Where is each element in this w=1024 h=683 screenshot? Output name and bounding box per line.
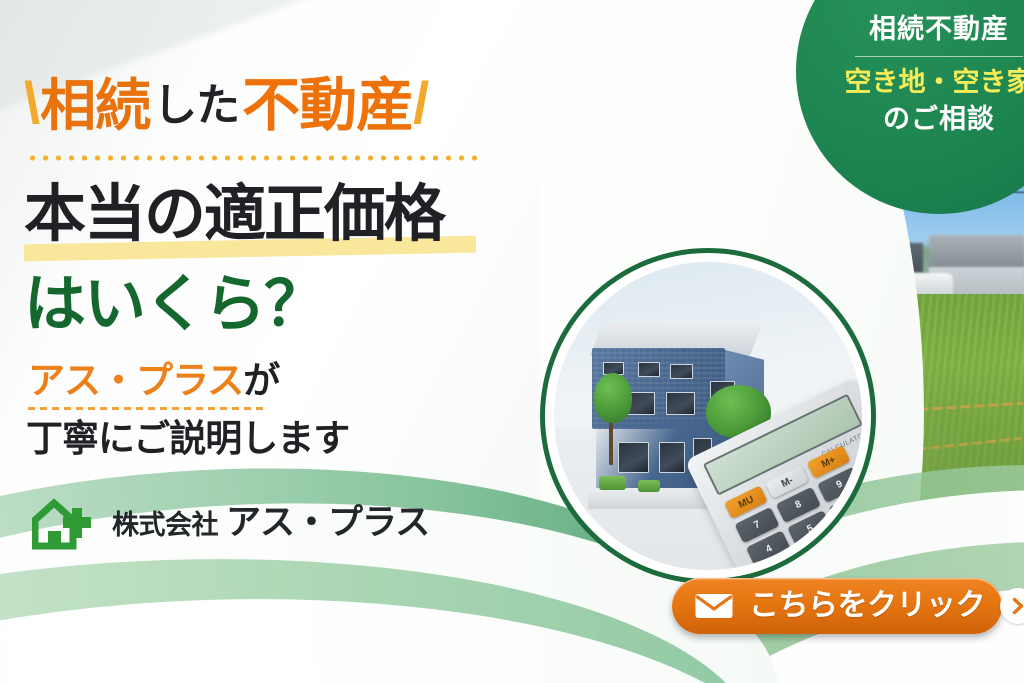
brand-dashed-underline — [28, 407, 266, 410]
slash-right-accent: / — [413, 75, 429, 133]
badge-line-2: 空き地・空き家 — [845, 69, 1024, 96]
company-name: アス・プラス — [226, 505, 429, 540]
badge-line-1: 相続不動産 — [869, 16, 1009, 43]
subcopy-brand: アス・プラス — [28, 360, 243, 401]
promotional-banner: \ 相続 した 不動産 / 本当の適正価格 はいくら？ アス・プラスが 丁寧にご… — [0, 0, 1024, 683]
model-tree — [594, 373, 632, 423]
house-model-calculator-image: CALCULATOR MU M- M+ 7 8 9 4 5 6 1 2 3 0 — [554, 262, 862, 570]
badge-line-3: のご相談 — [883, 106, 995, 133]
house-plus-logo-icon — [32, 494, 94, 550]
company-logo[interactable]: 株式会社 アス・プラス — [32, 494, 429, 550]
model-window — [666, 392, 695, 415]
model-window — [618, 442, 649, 473]
company-prefix: 株式会社 — [112, 512, 218, 539]
envelope-icon — [694, 592, 734, 620]
slash-left-accent: \ — [24, 75, 40, 133]
subcopy-particle: が — [243, 360, 279, 401]
headline-line-1: \ 相続 した 不動産 / — [24, 70, 504, 142]
headline-fudosan: 不動産 — [242, 77, 413, 135]
model-window — [670, 364, 693, 379]
subcopy-line-2: 丁寧にご説明します — [26, 420, 349, 457]
company-logo-text: 株式会社 アス・プラス — [112, 505, 429, 540]
model-hedge — [638, 480, 661, 491]
headline-sozoku: 相続 — [40, 78, 150, 134]
cta-button[interactable]: こちらをクリック — [672, 578, 1002, 634]
badge-divider — [855, 56, 1023, 57]
headline-line-3: はいくら？ — [24, 272, 324, 339]
cta-label: こちらをクリック — [749, 591, 985, 621]
dotted-divider — [26, 154, 478, 162]
headline-shita: した — [150, 84, 242, 128]
headline-block: \ 相続 した 不動産 / 本当の適正価格 はいくら？ アス・プラスが 丁寧にご… — [0, 0, 520, 683]
model-hedge — [599, 476, 626, 489]
model-window — [659, 442, 686, 473]
headline-line-2: 本当の適正価格 — [24, 182, 444, 249]
circular-photo-inset: CALCULATOR MU M- M+ 7 8 9 4 5 6 1 2 3 0 — [540, 248, 876, 584]
inset-white-ring: CALCULATOR MU M- M+ 7 8 9 4 5 6 1 2 3 0 — [545, 253, 871, 579]
model-window — [638, 362, 661, 377]
subcopy-line-1: アス・プラスが — [28, 362, 279, 399]
